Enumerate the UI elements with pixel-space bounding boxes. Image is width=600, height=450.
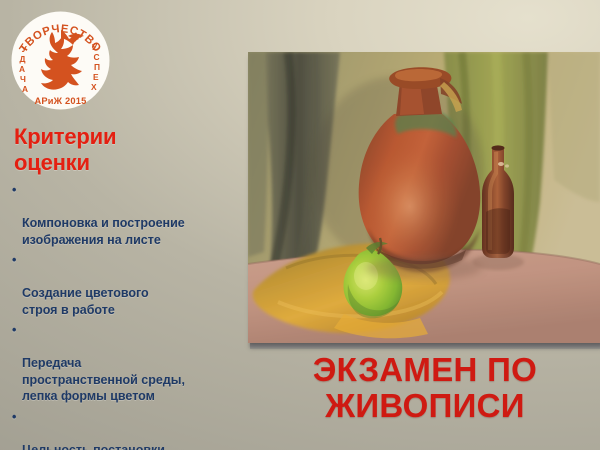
- still-life-painting: [248, 52, 600, 343]
- svg-text:Х: Х: [91, 82, 97, 92]
- criteria-list: • Компоновка и построение изображения на…: [12, 182, 244, 450]
- exam-title: ЭКЗАМЕН ПО ЖИВОПИСИ: [250, 352, 600, 423]
- criteria-heading: Критерии оценки: [14, 124, 244, 175]
- svg-text:С: С: [94, 52, 100, 62]
- criteria-item-text: Цельность постановки, колористическая: [22, 443, 168, 450]
- bullet-icon: •: [12, 409, 16, 426]
- criteria-block: Критерии оценки • Компоновка и построени…: [12, 124, 244, 450]
- bullet-icon: •: [12, 252, 16, 269]
- svg-text:А: А: [19, 64, 25, 74]
- svg-text:Д: Д: [20, 54, 26, 64]
- criteria-item: • Цельность постановки, колористическая: [12, 409, 244, 450]
- criteria-item: • Передача пространственной среды, лепка…: [12, 322, 244, 405]
- painting-drop-shadow: [250, 343, 600, 349]
- slide-canvas: ТВОРЧЕСТВО У Д А Ч А У С П Е Х АРиЖ 2015: [0, 0, 600, 450]
- svg-text:У: У: [92, 42, 98, 52]
- svg-text:А: А: [22, 84, 28, 94]
- criteria-item-text: Создание цветового строя в работе: [22, 286, 149, 317]
- criteria-item-text: Передача пространственной среды, лепка ф…: [22, 356, 185, 403]
- svg-text:Ч: Ч: [20, 74, 26, 84]
- bullet-icon: •: [12, 322, 16, 339]
- criteria-item: • Компоновка и построение изображения на…: [12, 182, 244, 248]
- criteria-item: • Создание цветового строя в работе: [12, 252, 244, 318]
- competition-logo: ТВОРЧЕСТВО У Д А Ч А У С П Е Х АРиЖ 2015: [8, 8, 113, 113]
- criteria-item-text: Компоновка и построение изображения на л…: [22, 216, 185, 247]
- logo-bottom-text: АРиЖ 2015: [34, 96, 86, 106]
- painting-canvas: [248, 52, 600, 343]
- bullet-icon: •: [12, 182, 16, 199]
- svg-text:У: У: [22, 44, 28, 54]
- svg-text:П: П: [94, 62, 100, 72]
- svg-text:Е: Е: [93, 72, 99, 82]
